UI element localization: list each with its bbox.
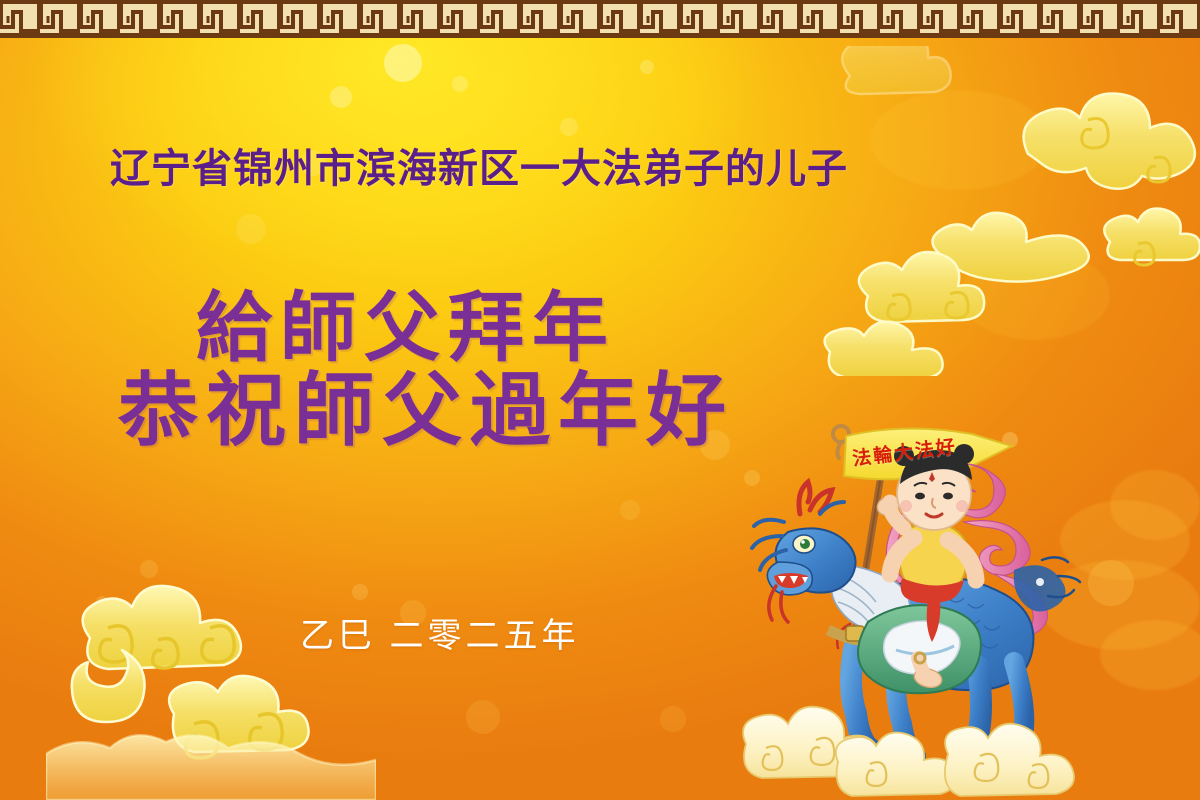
auspicious-cloud-icon xyxy=(46,566,376,800)
greeting-line-2: 恭祝師父過年好 xyxy=(118,346,734,462)
nianhua-illustration-icon xyxy=(742,410,1102,800)
new-year-greeting-card: 辽宁省锦州市滨海新区一大法弟子的儿子 給師父拜年 恭祝師父過年好 乙巳 二零二五… xyxy=(0,0,1200,800)
decorative-border-top xyxy=(0,0,1200,38)
greek-key-meander-icon xyxy=(0,0,1200,33)
sender-description-text: 辽宁省锦州市滨海新区一大法弟子的儿子 xyxy=(110,136,1100,194)
date-text: 乙巳 二零二五年 xyxy=(300,608,579,657)
child-riding-dragon-artwork xyxy=(742,410,1102,800)
cloud-decoration-bottom-left xyxy=(46,566,376,800)
